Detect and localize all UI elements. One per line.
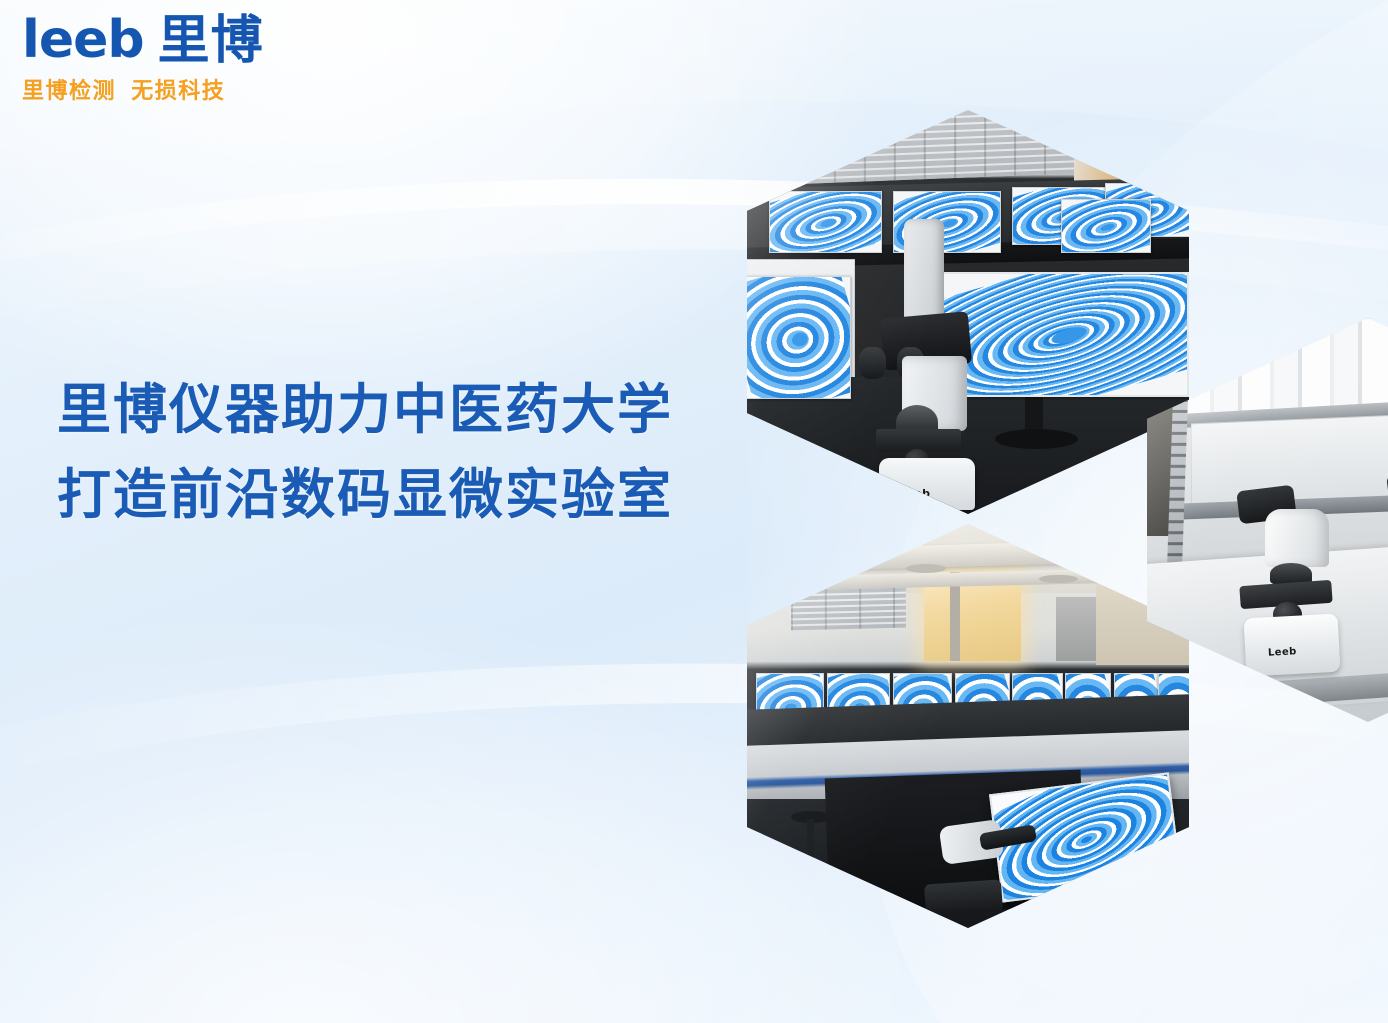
hexagon-photo-top[interactable]: Leeb [747, 110, 1189, 514]
photo-lab-front-microscope: Leeb [747, 110, 1189, 514]
headline: 里博仪器助力中医药大学 打造前沿数码显微实验室 [57, 368, 673, 539]
logo-tagline: 里博检测 无损科技 [22, 73, 352, 105]
microscope-shelf-1: Leeb [1235, 488, 1359, 682]
microscope-foreground: Leeb [862, 219, 1003, 510]
brand-logo: leeb 里博 里博检测 无损科技 [22, 14, 352, 105]
logo-latin-text: leeb [22, 14, 144, 66]
monitor-back-5 [1061, 199, 1151, 254]
microscope-foreground-bottom [906, 823, 1039, 928]
logo-wordmark: leeb 里博 [22, 14, 352, 66]
logo-chinese-text: 里博 [158, 15, 264, 67]
headline-line-2: 打造前沿数码显微实验室 [57, 453, 673, 538]
hexagon-photo-bottom[interactable] [747, 524, 1189, 928]
promo-banner: leeb 里博 里博检测 无损科技 里博仪器助力中医药大学 打造前沿数码显微实验… [0, 0, 1388, 1023]
photo-lab-wide-view [747, 524, 1189, 928]
monitor-left [747, 276, 851, 399]
headline-line-1: 里博仪器助力中医药大学 [57, 368, 673, 453]
microscope-brand-label-shelf-1: Leeb [1267, 646, 1296, 658]
microscope-brand-label: Leeb [899, 487, 956, 500]
